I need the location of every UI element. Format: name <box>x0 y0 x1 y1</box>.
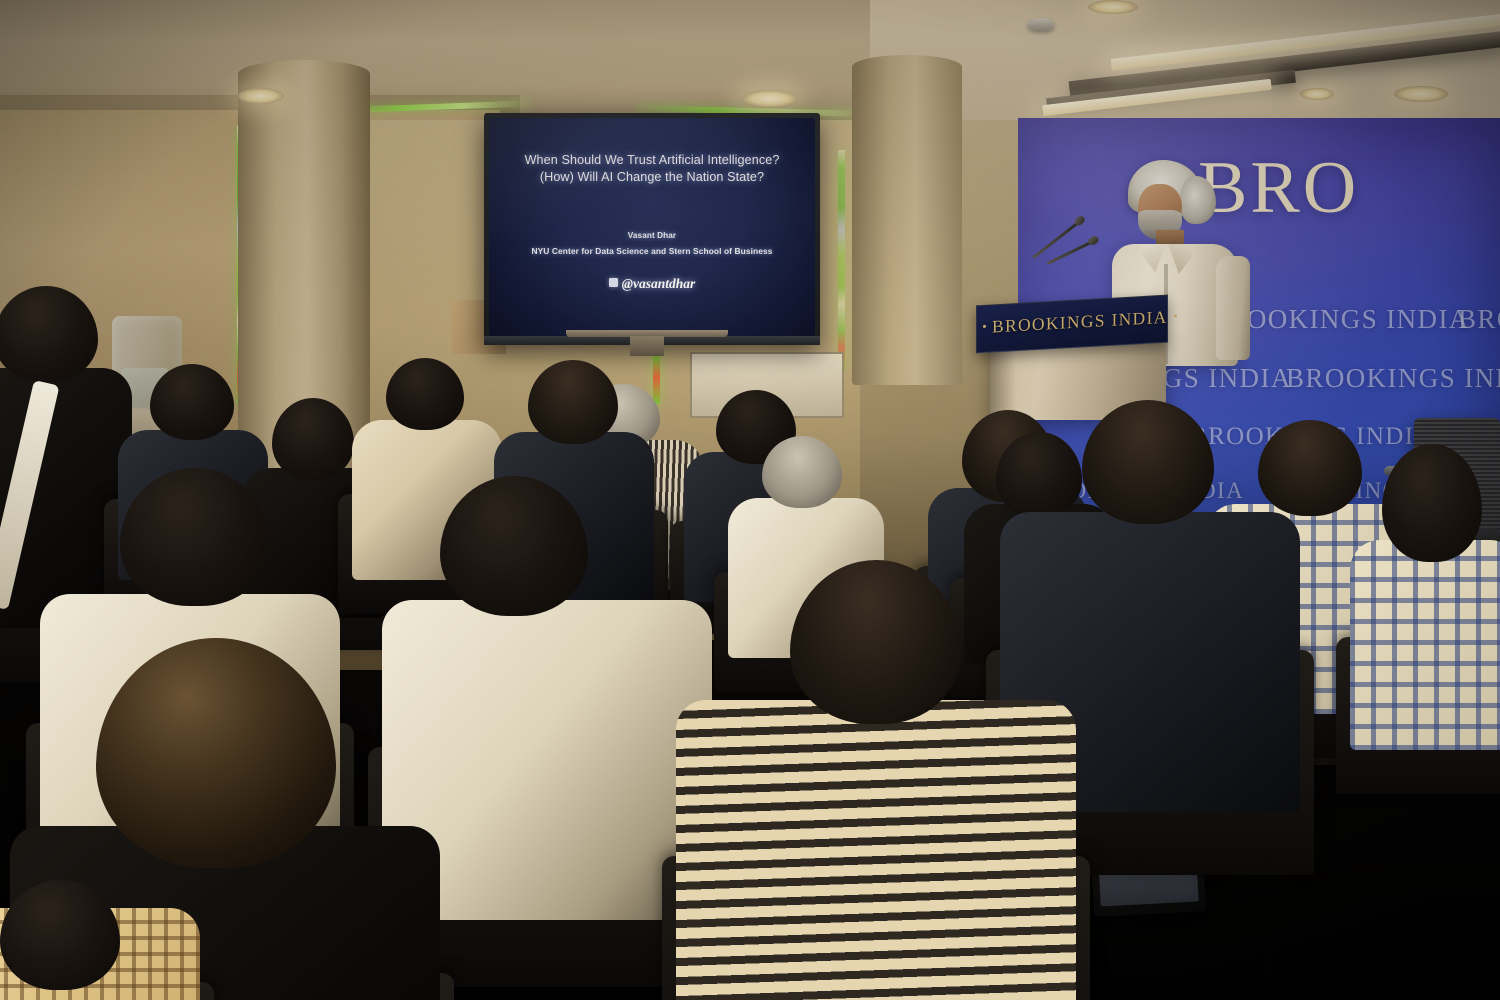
slide-social-handle: @vasantdhar <box>489 276 815 292</box>
attendee-head <box>386 358 464 430</box>
attendee-head <box>1258 420 1362 516</box>
attendee-torso <box>676 700 1076 1000</box>
accent-strip-vertical-far <box>838 150 845 370</box>
ceiling-downlight-3 <box>1394 86 1448 102</box>
attendee-head <box>528 360 618 444</box>
slide-title-line-1: When Should We Trust Artificial Intellig… <box>489 152 815 169</box>
slide-handle-text: @vasantdhar <box>622 276 696 291</box>
backdrop-watermark-2: BROOKINGS INDIA <box>1286 363 1500 394</box>
twitter-icon <box>609 278 618 287</box>
attendee-head <box>996 432 1082 518</box>
lecture-hall-photo: BRO BROOKINGS INDIABROOKINGS INDIABROOKI… <box>0 0 1500 1000</box>
backdrop-watermark-1: BROOKINGS INDIA <box>1458 304 1500 335</box>
attendee-head <box>150 364 234 440</box>
slide-author: Vasant Dhar <box>489 231 815 240</box>
podium-nameplate-text: BROOKINGS INDIA <box>977 307 1167 339</box>
ceiling-downlight-2 <box>742 90 798 108</box>
structural-column-right <box>852 55 962 385</box>
display-wall-mount <box>630 336 664 356</box>
smoke-detector-icon <box>1028 18 1054 31</box>
attendee-torso <box>1350 540 1500 750</box>
attendee-head <box>762 436 842 508</box>
ceiling-downlight-5 <box>1300 88 1334 100</box>
nameplate-dot-left <box>983 325 986 328</box>
presentation-display[interactable]: When Should We Trust Artificial Intellig… <box>484 113 820 345</box>
attendee-head <box>272 398 354 480</box>
speaker-hair-back <box>1180 176 1216 224</box>
slide-affiliation: NYU Center for Data Science and Stern Sc… <box>489 246 815 256</box>
nameplate-dot-right <box>1174 314 1177 317</box>
ceiling-downlight-4 <box>1088 0 1138 14</box>
speaker-arm-right <box>1216 256 1250 360</box>
slide-title-line-2: (How) Will AI Change the Nation State? <box>489 169 815 186</box>
podium-nameplate-label: BROOKINGS INDIA <box>992 307 1168 337</box>
slide-screen: When Should We Trust Artificial Intellig… <box>489 118 815 336</box>
slide-title: When Should We Trust Artificial Intellig… <box>489 152 815 186</box>
ceiling-downlight-1 <box>238 88 284 104</box>
